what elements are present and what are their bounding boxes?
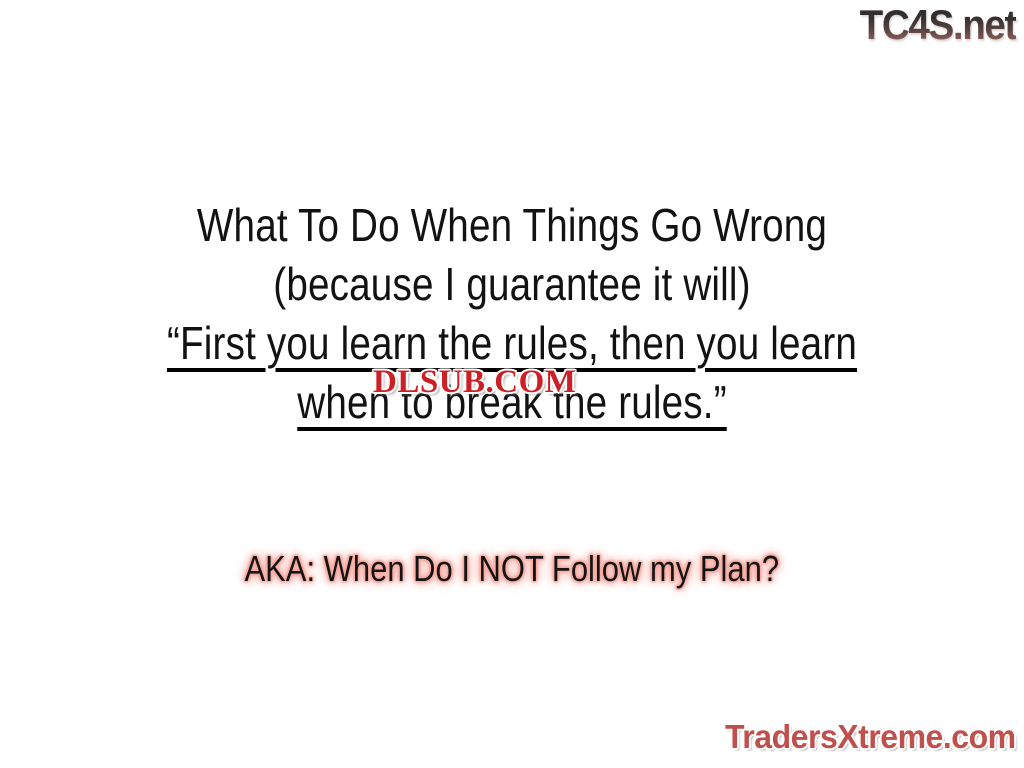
dlsub-watermark: DLSUB.COM bbox=[373, 364, 657, 400]
aka-question-text: AKA: When Do I NOT Follow my Plan? bbox=[245, 546, 780, 592]
dlsub-watermark-text: DLSUB.COM bbox=[373, 364, 576, 400]
slide-canvas: TC4S.net TC4S.net What To Do When Things… bbox=[0, 0, 1024, 768]
body-line-2: (because I guarantee it will) bbox=[82, 255, 942, 314]
tradersxtreme-logo: TradersXtreme.com bbox=[725, 718, 1016, 756]
tc4s-logo: TC4S.net bbox=[860, 2, 1016, 48]
aka-line-block: AKA: When Do I NOT Follow my Plan? bbox=[0, 546, 1024, 592]
body-line-1: What To Do When Things Go Wrong bbox=[82, 196, 942, 255]
